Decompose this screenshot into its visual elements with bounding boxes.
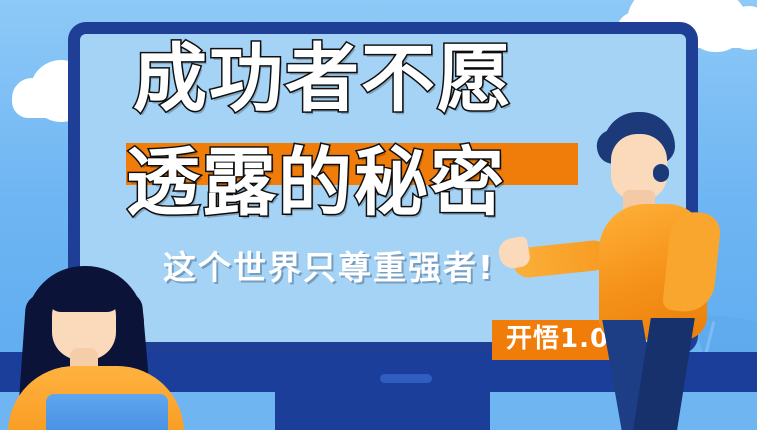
man-illustration [575,112,735,430]
laptop-screen [46,394,168,430]
poster-canvas: 成功者不愿 透露的秘密 这个世界只尊重强者! 开悟1.0 [0,0,757,430]
headline-line-2: 透露的秘密 [126,146,506,220]
monitor-indicator-light [380,374,432,383]
monitor-stand [275,392,490,430]
subtitle-text: 这个世界只尊重强者! [163,250,495,286]
woman-fringe [48,276,120,312]
headline-line-1: 成功者不愿 [133,42,513,116]
man-ear [653,164,669,182]
woman-illustration [8,262,208,430]
